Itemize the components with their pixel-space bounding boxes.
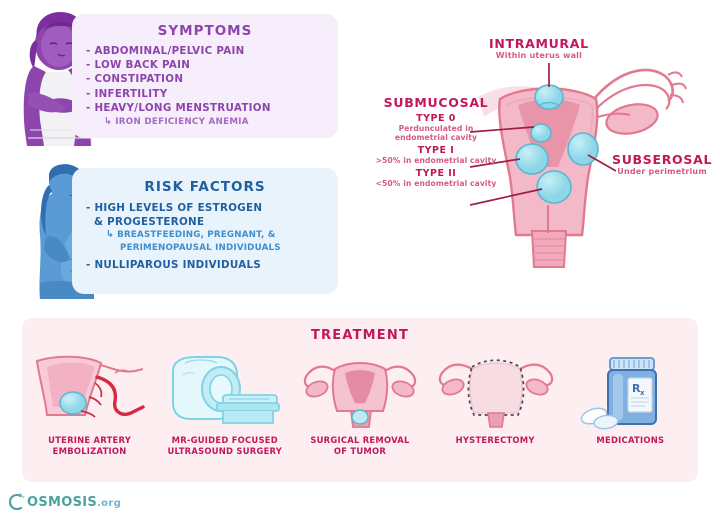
logo-suffix: .org (97, 498, 121, 509)
submucosal-label-block: SUBMUCOSAL TYPE 0 Perdunculated in endom… (360, 95, 512, 188)
risk-sub-item: ↳BREASTFEEDING, PREGNANT, & (106, 229, 338, 241)
risk-item-continuation: & PROGESTERONE (94, 215, 338, 229)
osmosis-logo[interactable]: OSMOSIS.org (8, 492, 121, 512)
treatment-label: HYSTERECTOMY (456, 435, 535, 446)
treatment-item-surgical-removal: SURGICAL REMOVAL OF TUMOR (294, 352, 426, 457)
risk-factors-title: RISK FACTORS (72, 179, 338, 195)
treatment-title: TREATMENT (22, 328, 698, 343)
risk-item: - HIGH LEVELS OF ESTROGEN (86, 201, 338, 215)
intramural-label: INTRAMURAL Within uterus wall (489, 36, 589, 60)
treatment-label: UTERINE ARTERY EMBOLIZATION (48, 435, 131, 457)
submucosal-type-0: TYPE 0 Perdunculated in endometrial cavi… (360, 113, 512, 142)
risk-sub-label: BREASTFEEDING, PREGNANT, & (117, 230, 275, 240)
type-0-desc-line1: Perdunculated in (360, 124, 512, 133)
submucosal-type0-fibroid (531, 124, 551, 142)
subserosal-label: SUBSEROSAL Under perimetrium (612, 152, 712, 176)
osmosis-logo-text: OSMOSIS.org (27, 495, 121, 510)
symptom-sub-label: IRON DEFICIENCY ANEMIA (115, 117, 249, 127)
symptom-sub-item: ↳IRON DEFICIENCY ANEMIA (104, 115, 338, 129)
subserosal-title: SUBSEROSAL (612, 152, 712, 167)
risk-factors-list: - HIGH LEVELS OF ESTROGEN & PROGESTERONE… (86, 201, 338, 272)
type-1-title: TYPE I (360, 145, 512, 156)
logo-name: OSMOSIS (27, 495, 97, 510)
symptom-item: - LOW BACK PAIN (86, 58, 338, 72)
submucosal-title: SUBMUCOSAL (360, 95, 512, 110)
right-fallopian-tube (594, 70, 686, 138)
intramural-title: INTRAMURAL (489, 36, 589, 51)
submucosal-type1-fibroid (516, 144, 548, 174)
symptoms-list: - ABDOMINAL/PELVIC PAIN - LOW BACK PAIN … (86, 44, 338, 129)
symptoms-panel: SYMPTOMS - ABDOMINAL/PELVIC PAIN - LOW B… (72, 14, 338, 138)
type-0-title: TYPE 0 (360, 113, 512, 124)
risk-item: - NULLIPAROUS INDIVIDUALS (86, 258, 338, 272)
treatment-label: MR-GUIDED FOCUSED ULTRASOUND SURGERY (167, 435, 282, 457)
treatment-item-mr-guided-focused-ultrasound: MR-GUIDED FOCUSED ULTRASOUND SURGERY (159, 352, 291, 457)
type-1-desc: >50% in endometrial cavity (360, 156, 512, 165)
sub-arrow-icon: ↳ (104, 116, 112, 127)
submucosal-type-2: TYPE II <50% in endometrial cavity (360, 168, 512, 188)
uterine-artery-embolization-icon (31, 352, 149, 430)
treatment-item-hysterectomy: HYSTERECTOMY (429, 352, 561, 446)
symptom-item: - HEAVY/LONG MENSTRUATION (86, 101, 338, 115)
pill-bottle-icon: R x (580, 352, 680, 430)
type-2-desc: <50% in endometrial cavity (360, 179, 512, 188)
risk-factors-panel: RISK FACTORS - HIGH LEVELS OF ESTROGEN &… (72, 168, 338, 294)
treatment-item-medications: R x MEDICATIONS (564, 352, 696, 446)
treatment-label: MEDICATIONS (596, 435, 664, 446)
mri-scanner-icon (165, 352, 285, 430)
infographic-page: SYMPTOMS - ABDOMINAL/PELVIC PAIN - LOW B… (0, 0, 720, 523)
intramural-fibroid (535, 85, 563, 109)
treatment-items-row: UTERINE ARTERY EMBOLIZATION (22, 352, 698, 478)
osmosis-swirl-icon (8, 492, 26, 512)
submucosal-type2-fibroid (537, 171, 571, 203)
intramural-desc: Within uterus wall (489, 51, 589, 60)
subserosal-desc: Under perimetrium (612, 167, 712, 176)
risk-sub-item-line2: PERIMENOPAUSAL INDIVIDUALS (120, 242, 338, 254)
symptom-item: - ABDOMINAL/PELVIC PAIN (86, 44, 338, 58)
treatment-panel: TREATMENT (22, 318, 698, 482)
type-2-title: TYPE II (360, 168, 512, 179)
type-0-desc-line2: endometrial cavity (360, 133, 512, 142)
symptoms-title: SYMPTOMS (72, 23, 338, 39)
uterus-tumor-removal-icon (301, 352, 419, 430)
hysterectomy-icon (436, 352, 554, 430)
subserosal-fibroid (568, 133, 598, 165)
treatment-item-uterine-artery-embolization: UTERINE ARTERY EMBOLIZATION (24, 352, 156, 457)
svg-text:x: x (640, 389, 645, 397)
symptom-item: - CONSTIPATION (86, 72, 338, 86)
symptom-item: - INFERTILITY (86, 87, 338, 101)
sub-arrow-icon: ↳ (106, 229, 114, 240)
treatment-label: SURGICAL REMOVAL OF TUMOR (310, 435, 409, 457)
submucosal-type-1: TYPE I >50% in endometrial cavity (360, 145, 512, 165)
